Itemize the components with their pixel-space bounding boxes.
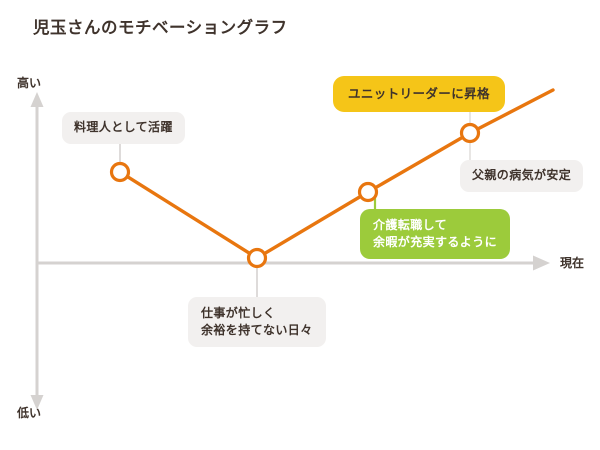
data-point-marker[interactable] [462,125,479,142]
y-axis-up-arrow-icon [31,92,44,107]
x-axis-right-arrow-icon [533,256,550,271]
callout-busy-line1: 仕事が忙しく [201,305,313,322]
callout-chef: 料理人として活躍 [62,112,185,144]
x-axis-now-label: 現在 [560,254,584,271]
callout-leader: ユニットリーダーに昇格 [333,76,505,112]
data-point-marker[interactable] [360,184,377,201]
y-axis-low-label: 低い [17,404,41,421]
callout-chef-line1: 料理人として活躍 [74,119,173,136]
data-point-marker[interactable] [112,164,129,181]
callout-busy: 仕事が忙しく 余裕を持てない日々 [188,297,326,347]
callout-busy-line2: 余裕を持てない日々 [201,322,313,339]
callout-leader-line1: ユニットリーダーに昇格 [348,85,490,102]
data-point-marker[interactable] [249,250,266,267]
callout-father: 父親の病気が安定 [460,160,583,192]
callout-care-line2: 余暇が充実するように [373,234,497,251]
motivation-graph-canvas: 児玉さんのモチベーショングラフ 高い 低い 現在 料理人として活躍 仕事が [0,0,600,450]
y-axis-high-label: 高い [17,74,41,91]
callout-father-line1: 父親の病気が安定 [472,167,571,184]
callout-care-line1: 介護転職して [373,217,497,234]
callout-care: 介護転職して 余暇が充実するように [360,209,510,259]
